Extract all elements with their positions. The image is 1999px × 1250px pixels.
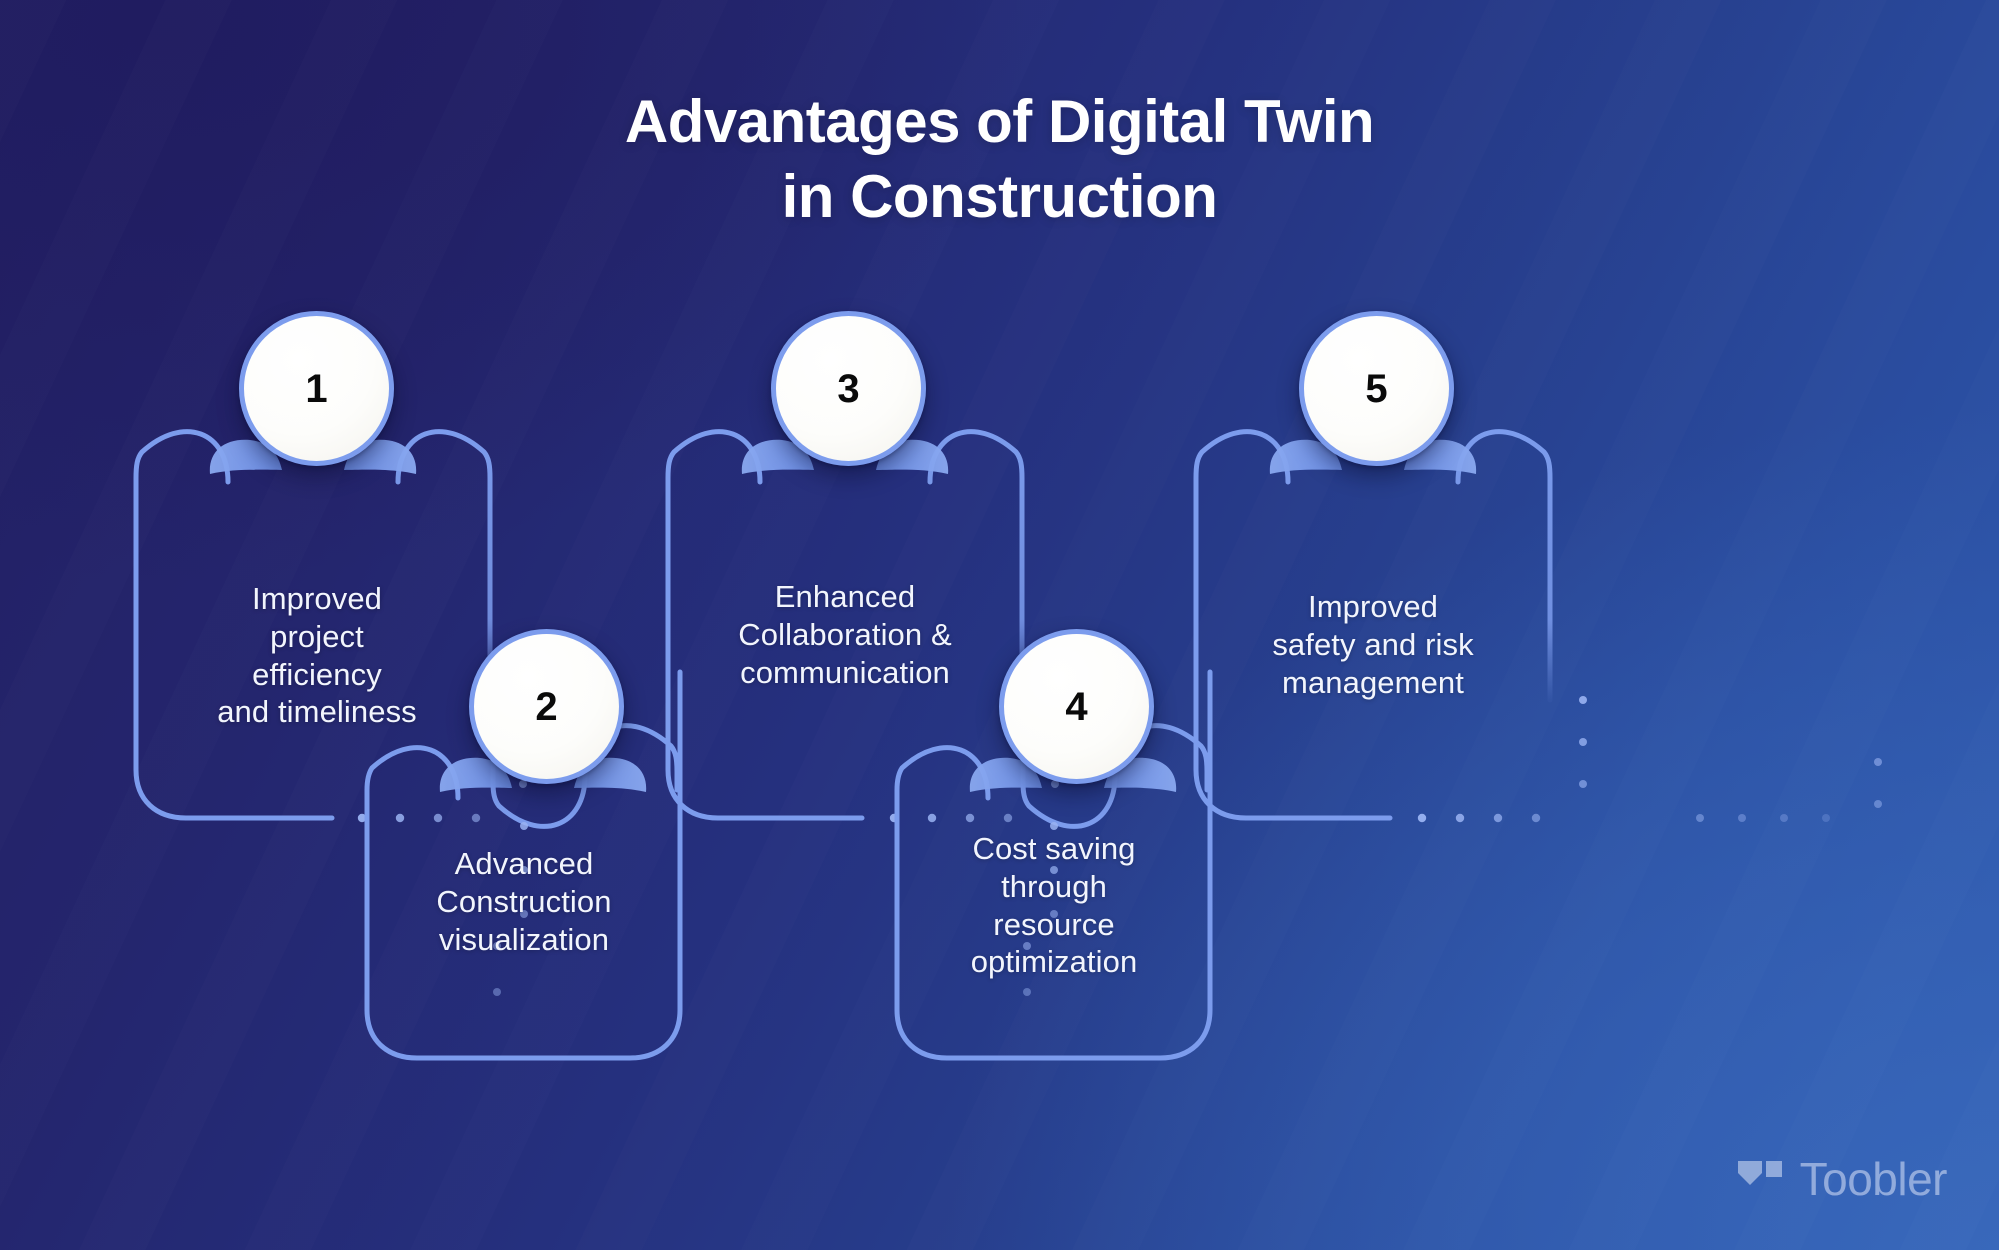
card-number-3: 3: [837, 369, 859, 409]
card-text-2: Advanced Construction visualization: [370, 845, 678, 958]
card-3-line-3: communication: [660, 654, 1030, 692]
card-number-4: 4: [1065, 687, 1087, 727]
card-text-1: Improved project efficiency and timeline…: [136, 580, 498, 731]
card-3-line-2: Collaboration &: [660, 616, 1030, 654]
card-1-line-1: Improved: [136, 580, 498, 618]
card-5-line-2: safety and risk: [1192, 626, 1554, 664]
card-4-line-3: resource: [900, 906, 1208, 944]
card-1-line-3: efficiency: [136, 656, 498, 694]
card-5-dotted-right: [1579, 696, 1882, 808]
card-2-line-1: Advanced: [370, 845, 678, 883]
card-number-5: 5: [1365, 369, 1387, 409]
card-badge-1[interactable]: 1: [239, 311, 394, 466]
card-number-1: 1: [305, 369, 327, 409]
card-text-3: Enhanced Collaboration & communication: [660, 578, 1030, 691]
brand-logo[interactable]: Toobler: [1736, 1152, 1947, 1206]
trailing-dots: [1696, 814, 1830, 822]
card-2-line-3: visualization: [370, 921, 678, 959]
card-4-line-2: through: [900, 868, 1208, 906]
card-number-2: 2: [535, 687, 557, 727]
brand-name: Toobler: [1800, 1152, 1947, 1206]
card-1-line-4: and timeliness: [136, 693, 498, 731]
card-3-line-1: Enhanced: [660, 578, 1030, 616]
card-5-line-3: management: [1192, 664, 1554, 702]
infographic-canvas: Advantages of Digital Twin in Constructi…: [0, 0, 1999, 1250]
card-4-line-1: Cost saving: [900, 830, 1208, 868]
toobler-chevron-mark: [1736, 1157, 1784, 1201]
card-text-4: Cost saving through resource optimizatio…: [900, 830, 1208, 981]
card-badge-5[interactable]: 5: [1299, 311, 1454, 466]
card-5-dotted-bottom: [1418, 814, 1540, 822]
card-badge-3[interactable]: 3: [771, 311, 926, 466]
card-text-5: Improved safety and risk management: [1192, 588, 1554, 701]
card-2-line-2: Construction: [370, 883, 678, 921]
card-3-dotted-bottom: [890, 814, 1012, 822]
card-4-line-4: optimization: [900, 943, 1208, 981]
card-1-line-2: project: [136, 618, 498, 656]
card-5-line-1: Improved: [1192, 588, 1554, 626]
card-1-dotted-bottom: [358, 814, 480, 822]
